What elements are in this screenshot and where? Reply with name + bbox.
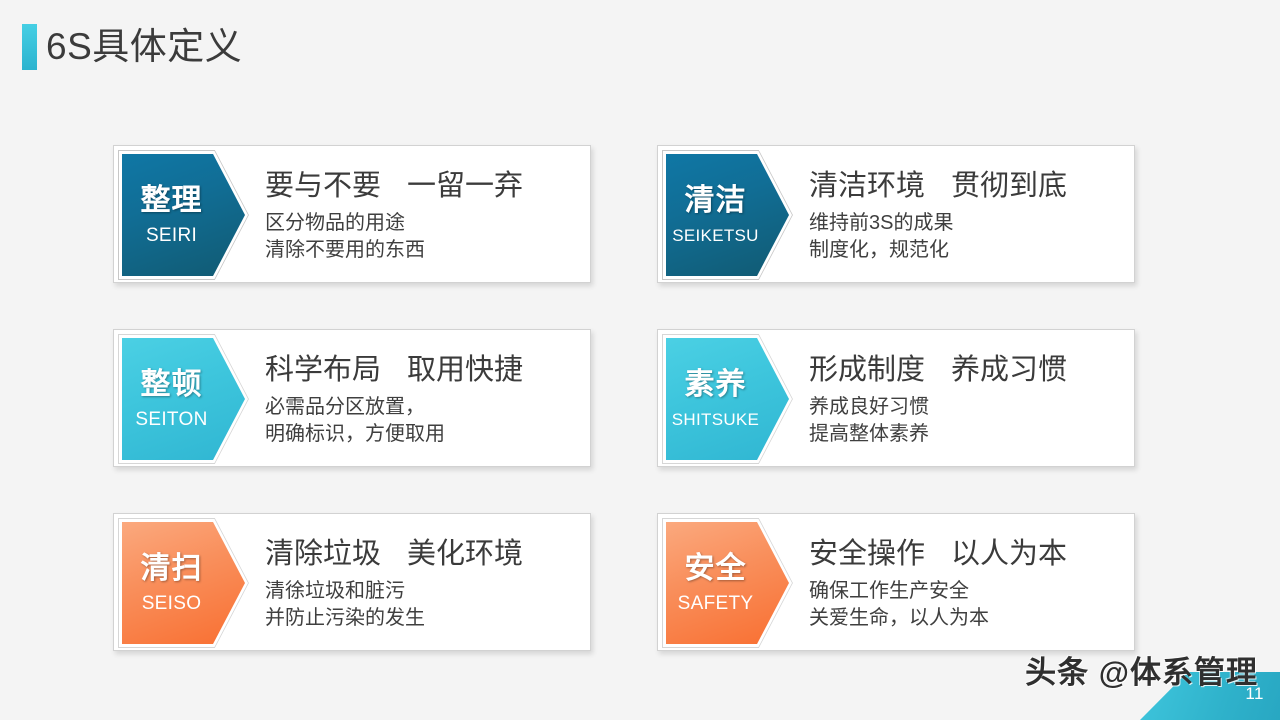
badge-chinese-label: 整理 <box>141 181 203 221</box>
card-heading: 清除垃圾美化环境 <box>265 534 582 574</box>
badge-seiri: 整理 SEIRI <box>118 150 249 280</box>
definition-card-safety[interactable]: 安全 SAFETY 安全操作以人为本 确保工作生产安全 关爱生命，以人为本 <box>657 513 1135 651</box>
card-heading: 安全操作以人为本 <box>809 534 1126 574</box>
card-heading-right: 取用快捷 <box>407 354 523 386</box>
badge-text-group: 素养 SHITSUKE <box>662 334 769 464</box>
definition-card-seiketsu[interactable]: 清洁 SEIKETSU 清洁环境贯彻到底 维持前3S的成果 制度化，规范化 <box>657 145 1135 283</box>
card-heading: 清洁环境贯彻到底 <box>809 166 1126 206</box>
card-body: 安全操作以人为本 确保工作生产安全 关爱生命，以人为本 <box>803 514 1126 652</box>
card-desc-line-2: 制度化，规范化 <box>809 237 1126 264</box>
card-body: 清洁环境贯彻到底 维持前3S的成果 制度化，规范化 <box>803 146 1126 284</box>
badge-chinese-label: 素养 <box>685 365 747 405</box>
card-body: 要与不要一留一弃 区分物品的用途 清除不要用的东西 <box>259 146 582 284</box>
definition-card-seiri[interactable]: 整理 SEIRI 要与不要一留一弃 区分物品的用途 清除不要用的东西 <box>113 145 591 283</box>
card-heading-left: 安全操作 <box>809 538 925 570</box>
card-heading-right: 贯彻到底 <box>951 170 1067 202</box>
card-heading-left: 清除垃圾 <box>265 538 381 570</box>
badge-shitsuke: 素养 SHITSUKE <box>662 334 793 464</box>
badge-text-group: 清扫 SEISO <box>118 518 225 648</box>
card-desc-line-1: 必需品分区放置， <box>265 394 582 421</box>
card-desc-line-2: 清除不要用的东西 <box>265 237 582 264</box>
definition-card-seiso[interactable]: 清扫 SEISO 清除垃圾美化环境 清徐垃圾和脏污 并防止污染的发生 <box>113 513 591 651</box>
definition-card-shitsuke[interactable]: 素养 SHITSUKE 形成制度养成习惯 养成良好习惯 提高整体素养 <box>657 329 1135 467</box>
badge-romaji-label: SEIRI <box>146 223 197 249</box>
badge-romaji-label: SAFETY <box>678 591 754 617</box>
card-desc-line-1: 养成良好习惯 <box>809 394 1126 421</box>
badge-chinese-label: 清扫 <box>141 549 203 589</box>
card-desc-line-1: 维持前3S的成果 <box>809 210 1126 237</box>
card-desc-line-1: 区分物品的用途 <box>265 210 582 237</box>
card-heading-left: 清洁环境 <box>809 170 925 202</box>
badge-text-group: 清洁 SEIKETSU <box>662 150 769 280</box>
badge-romaji-label: SEITON <box>135 407 207 433</box>
card-desc-line-1: 确保工作生产安全 <box>809 578 1126 605</box>
badge-chinese-label: 安全 <box>685 549 747 589</box>
badge-text-group: 安全 SAFETY <box>662 518 769 648</box>
title-accent-bar <box>22 24 37 70</box>
badge-seiso: 清扫 SEISO <box>118 518 249 648</box>
watermark-text: 头条 @体系管理 <box>1025 647 1258 692</box>
page-title: 6S具体定义 <box>46 17 242 77</box>
card-body: 形成制度养成习惯 养成良好习惯 提高整体素养 <box>803 330 1126 468</box>
card-heading: 形成制度养成习惯 <box>809 350 1126 390</box>
card-desc-line-2: 关爱生命，以人为本 <box>809 605 1126 632</box>
badge-romaji-label: SHITSUKE <box>672 407 759 433</box>
card-desc-line-2: 提高整体素养 <box>809 421 1126 448</box>
definition-card-seiton[interactable]: 整顿 SEITON 科学布局取用快捷 必需品分区放置， 明确标识，方便取用 <box>113 329 591 467</box>
card-desc-line-2: 并防止污染的发生 <box>265 605 582 632</box>
slide-header: 6S具体定义 <box>0 0 1280 100</box>
badge-romaji-label: SEIKETSU <box>672 223 758 249</box>
card-body: 清除垃圾美化环境 清徐垃圾和脏污 并防止污染的发生 <box>259 514 582 652</box>
card-heading-right: 一留一弃 <box>407 170 523 202</box>
card-heading-left: 形成制度 <box>809 354 925 386</box>
card-heading-right: 美化环境 <box>407 538 523 570</box>
card-heading-right: 以人为本 <box>951 538 1067 570</box>
badge-romaji-label: SEISO <box>142 591 202 617</box>
card-heading: 要与不要一留一弃 <box>265 166 582 206</box>
badge-chinese-label: 整顿 <box>141 365 203 405</box>
card-heading-right: 养成习惯 <box>951 354 1067 386</box>
card-desc-line-2: 明确标识，方便取用 <box>265 421 582 448</box>
card-heading-left: 要与不要 <box>265 170 381 202</box>
badge-text-group: 整顿 SEITON <box>118 334 225 464</box>
card-heading-left: 科学布局 <box>265 354 381 386</box>
badge-text-group: 整理 SEIRI <box>118 150 225 280</box>
card-body: 科学布局取用快捷 必需品分区放置， 明确标识，方便取用 <box>259 330 582 468</box>
badge-seiketsu: 清洁 SEIKETSU <box>662 150 793 280</box>
badge-safety: 安全 SAFETY <box>662 518 793 648</box>
card-desc-line-1: 清徐垃圾和脏污 <box>265 578 582 605</box>
badge-chinese-label: 清洁 <box>685 181 747 221</box>
card-heading: 科学布局取用快捷 <box>265 350 582 390</box>
definition-card-grid: 整理 SEIRI 要与不要一留一弃 区分物品的用途 清除不要用的东西 清洁 SE… <box>113 145 1135 655</box>
badge-seiton: 整顿 SEITON <box>118 334 249 464</box>
